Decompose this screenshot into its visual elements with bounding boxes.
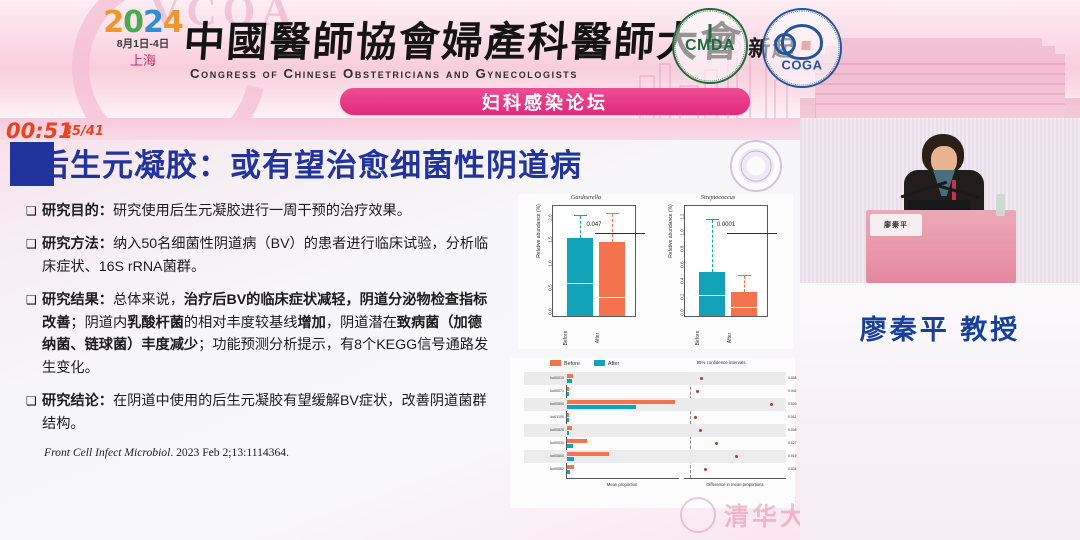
event-city: 上海 (102, 54, 184, 67)
boxplot-gardnerella-ytick-3: 1.5 (548, 237, 553, 251)
bullet-lead: 研究方法： (42, 236, 113, 252)
bullet-item: ❑研究目的：研究使用后生元凝胶进行一周干预的治疗效果。 (26, 200, 496, 222)
bullet-marker-icon: ❑ (26, 233, 42, 278)
eb-ci-point (735, 455, 738, 458)
eb-bar-after (567, 457, 574, 461)
eb-row-label: ko00562 (524, 467, 564, 471)
citation-details: . 2023 Feb 2;13:1114364. (170, 446, 289, 459)
forum-title-pill: 妇科感染论坛 (340, 88, 750, 115)
bullet-item: ❑研究结果：总体来说，治疗后BV的临床症状减轻，阴道分泌物检查指标改善；阴道内乳… (26, 289, 496, 379)
boxplot-streptococcus-xtick-before: Before (695, 324, 701, 352)
eb-bar-after (567, 470, 570, 474)
bullet-segment: 的相对丰度较基线 (184, 315, 298, 331)
eb-row-label: ko00520 (524, 428, 564, 432)
bullet-emphasis: 乳酸杆菌 (127, 315, 184, 331)
citation-journal: Front Cell Infect Microbiol (44, 446, 170, 459)
eb-row-label: ko00030 (524, 441, 564, 445)
podium: 廖秦平 (866, 210, 1016, 283)
slide-figures: Gardnerella Relative abundance (%) 0.047 (510, 194, 795, 534)
bullet-marker-icon: ❑ (26, 200, 42, 222)
cmda-logo: CMDA (672, 8, 748, 84)
boxplot-streptococcus-pvalue: 0.0001 (685, 222, 767, 228)
speaker-video-panel[interactable]: 廖秦平 廖秦平 教授 (800, 118, 1080, 540)
eb-row: ko000300.027 (524, 437, 786, 450)
institution-logo-icon (730, 140, 782, 192)
slide-citation: Front Cell Infect Microbiol. 2023 Feb 2;… (44, 446, 289, 459)
eb-ci-point (715, 442, 718, 445)
boxplot-gardnerella-xtick-after: After (595, 324, 601, 352)
eb-legend-before-label: Before (564, 361, 580, 367)
eb-bar-after (567, 405, 636, 409)
eb-legend-after: After (594, 360, 619, 367)
boxplot-streptococcus-title: Streptococcus (658, 194, 778, 201)
eb-bar-before (567, 465, 574, 469)
coga-logo: COGA (762, 8, 842, 88)
slide-watermark-seal-icon (680, 497, 716, 533)
eb-row-label: ko00600 (524, 454, 564, 458)
eb-ci-point (704, 468, 707, 471)
coga-logo-text: COGA (782, 57, 823, 72)
boxplot-figure-group: Gardnerella Relative abundance (%) 0.047 (518, 194, 793, 349)
boxplot-streptococcus-ytick-4: 0.8 (680, 246, 685, 260)
extended-error-bar-figure: Before After 95% confidence intervals ko… (510, 358, 795, 508)
eb-row: ko005200.008 (524, 424, 786, 437)
eb-bar-after (567, 431, 569, 435)
eb-bar-before (567, 374, 573, 378)
eb-ci-point (699, 429, 702, 432)
speaker-name: 廖秦平 教授 (800, 308, 1080, 347)
eb-xlabel-left: Mean proportion (566, 482, 678, 487)
event-logo-2024: 2024 8月1日-4日 上海 (102, 8, 184, 67)
eb-bar-after (567, 379, 572, 383)
slide-bullet-list: ❑研究目的：研究使用后生元凝胶进行一周干预的治疗效果。❑研究方法：纳入50名细菌… (26, 200, 496, 446)
boxplot-gardnerella-ytick-2: 1.0 (548, 261, 553, 275)
boxplot-gardnerella-panel: 0.047 (552, 205, 636, 317)
boxplot-streptococcus-ytick-1: 0.2 (680, 294, 685, 308)
congress-title-cn-main: 中國醫師協會婦產科醫師大會 (182, 19, 744, 65)
boxplot-streptococcus-xtick-after: After (727, 324, 733, 352)
eb-pvalue-label: 0.003 (788, 402, 800, 406)
eb-row: ko005000.003 (524, 398, 786, 411)
eb-bar-after (567, 418, 569, 422)
eb-row: ko006000.019 (524, 450, 786, 463)
eb-plot-area: ko000100.008ko000710.042ko005000.003ko01… (524, 372, 786, 492)
slide-counter: 35/41 (63, 124, 104, 139)
conference-banner: VCOA 2024 (0, 0, 1080, 118)
eb-bar-before (567, 413, 569, 417)
bullet-text: 研究目的：研究使用后生元凝胶进行一周干预的治疗效果。 (42, 200, 496, 222)
boxplot-streptococcus-ytick-5: 1.0 (680, 230, 685, 244)
eb-row-label: ko01100 (524, 415, 564, 419)
bullet-text: 研究结果：总体来说，治疗后BV的临床症状减轻，阴道分泌物检查指标改善；阴道内乳酸… (42, 289, 496, 379)
bullet-segment: ，阴道潜在 (326, 315, 397, 331)
boxplot-streptococcus: Streptococcus Relative abundance (%) 0.0… (658, 194, 778, 349)
event-dates: 8月1日-4日 (102, 39, 184, 50)
eb-legend: Before After (550, 360, 619, 367)
eb-row: ko011000.011 (524, 411, 786, 424)
eb-xlabel-right: Difference in mean proportions (684, 482, 786, 487)
bullet-lead: 研究目的： (42, 203, 113, 219)
boxplot-streptococcus-ytick-6: 1.2 (680, 214, 685, 228)
eb-bar-before (567, 400, 675, 404)
eb-bar-before (567, 439, 587, 443)
eb-legend-before: Before (550, 360, 580, 367)
boxplot-gardnerella-xtick-before: Before (563, 324, 569, 352)
congress-title-en: Congress of Chinese Obstetricians and Gy… (190, 66, 578, 81)
eb-right-panel-title: 95% confidence intervals (670, 360, 772, 365)
bullet-text: 研究结论：在阴道中使用的后生元凝胶有望缓解BV症状，改善阴道菌群结构。 (42, 390, 496, 435)
boxplot-streptococcus-ylabel: Relative abundance (%) (668, 196, 674, 266)
eb-row: ko005620.034 (524, 463, 786, 476)
boxplot-gardnerella-title: Gardnerella (526, 194, 646, 201)
boxplot-gardnerella-ytick-0: 0.0 (548, 309, 553, 323)
bullet-segment: 总体来说， (113, 292, 184, 308)
eb-ci-point (694, 416, 697, 419)
event-year: 2024 (102, 8, 184, 38)
slide-watermark: 清华大学临床医学院 (680, 494, 800, 536)
boxplot-gardnerella-sigbar (595, 233, 645, 234)
eb-pvalue-label: 0.008 (788, 428, 800, 432)
boxplot-streptococcus-ytick-3: 0.6 (680, 262, 685, 276)
eb-pvalue-label: 0.042 (788, 389, 800, 393)
mother-child-icon (781, 24, 823, 60)
bullet-item: ❑研究结论：在阴道中使用的后生元凝胶有望缓解BV症状，改善阴道菌群结构。 (26, 390, 496, 435)
water-bottle (996, 194, 1005, 216)
eb-row-label: ko00500 (524, 402, 564, 406)
eb-pvalue-label: 0.027 (788, 441, 800, 445)
eb-bar-after (567, 392, 569, 396)
bullet-lead: 研究结论： (42, 393, 113, 409)
slide-watermark-text: 清华大学临床医学院 (724, 497, 800, 533)
eb-legend-after-label: After (608, 361, 619, 367)
congress-title-cn: 中國醫師協會婦產科醫師大會新起 (182, 8, 656, 70)
bullet-emphasis: 增加 (297, 315, 325, 331)
bullet-segment: ；阴道内 (70, 315, 127, 331)
eb-bar-before (567, 387, 569, 391)
eb-pvalue-label: 0.011 (788, 415, 800, 419)
slide-top-strip (0, 118, 800, 140)
boxplot-gardnerella-ytick-1: 0.5 (548, 285, 553, 299)
presentation-slide: 00:51 35/41 后生元凝胶：或有望治愈细菌性阴道病 ❑研究目的：研究使用… (0, 118, 800, 540)
boxplot-streptococcus-ytick-2: 0.4 (680, 278, 685, 292)
boxplot-streptococcus-ytick-0: 0.0 (680, 310, 685, 324)
bullet-marker-icon: ❑ (26, 289, 42, 379)
boxplot-gardnerella-pvalue: 0.047 (553, 222, 635, 228)
eb-bar-after (567, 444, 573, 448)
bullet-text: 研究方法：纳入50名细菌性阴道病（BV）的患者进行临床试验，分析临床症状、16S… (42, 233, 496, 278)
eb-legend-before-swatch (550, 360, 561, 366)
bullet-marker-icon: ❑ (26, 390, 42, 435)
eb-row: ko000710.042 (524, 385, 786, 398)
eb-pvalue-label: 0.019 (788, 454, 800, 458)
eb-pvalue-label: 0.034 (788, 467, 800, 471)
boxplot-gardnerella-ylabel: Relative abundance (%) (536, 196, 542, 266)
eb-ci-point (700, 377, 703, 380)
eb-row-label: ko00010 (524, 376, 564, 380)
bullet-segment: 研究使用后生元凝胶进行一周干预的治疗效果。 (113, 203, 411, 219)
eb-row-label: ko00071 (524, 389, 564, 393)
boxplot-streptococcus-sigbar (727, 233, 777, 234)
podium-nameplate: 廖秦平 (870, 214, 922, 236)
eb-row: ko000100.008 (524, 372, 786, 385)
eb-bar-before (567, 452, 609, 456)
broadcast-stage: VCOA 2024 (0, 0, 1080, 540)
eb-bar-before (567, 426, 572, 430)
eb-ci-point (696, 390, 699, 393)
boxplot-streptococcus-panel: 0.0001 (684, 205, 768, 317)
boxplot-gardnerella-ytick-4: 2.0 (548, 215, 553, 229)
eb-ci-point (770, 403, 773, 406)
bullet-item: ❑研究方法：纳入50名细菌性阴道病（BV）的患者进行临床试验，分析临床症状、16… (26, 233, 496, 278)
eb-pvalue-label: 0.008 (788, 376, 800, 380)
slide-title: 后生元凝胶：或有望治愈细菌性阴道病 (38, 140, 582, 185)
eb-legend-after-swatch (594, 360, 605, 366)
cmda-logo-text: CMDA (685, 37, 735, 55)
boxplot-gardnerella: Gardnerella Relative abundance (%) 0.047 (526, 194, 646, 349)
bullet-lead: 研究结果： (42, 292, 113, 308)
